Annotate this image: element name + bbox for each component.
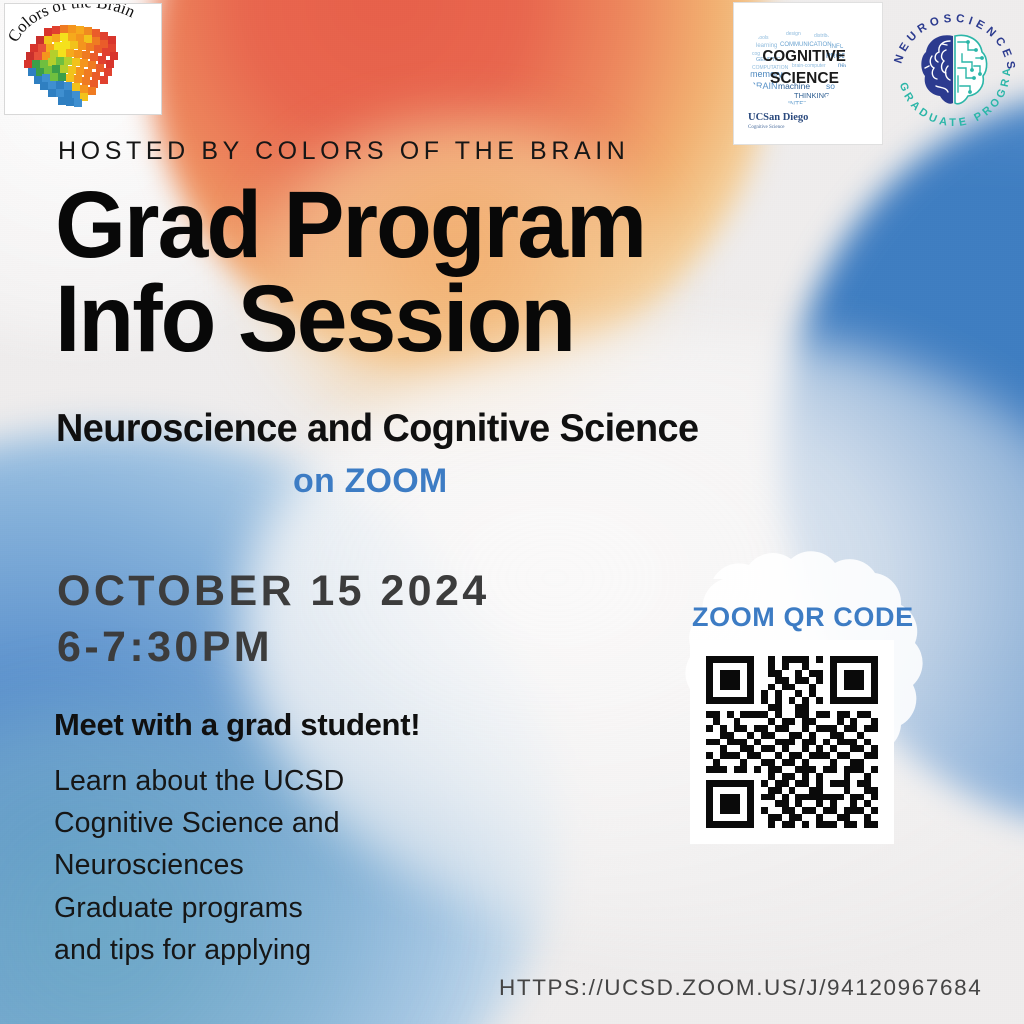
body-description: Learn about the UCSD Cognitive Science a… bbox=[54, 760, 344, 971]
svg-text:HCI: HCI bbox=[818, 108, 832, 117]
pixel-brain-icon bbox=[14, 20, 154, 110]
neurosciences-circular-logo-icon: NEUROSCIENCES GRADUATE PROGRAM bbox=[884, 0, 1024, 140]
cognitive-science-wordcloud-brain-icon: tools design distributed learning COMMUN… bbox=[734, 3, 883, 145]
svg-text:theory: theory bbox=[750, 93, 763, 98]
ucsd-wordmark: UCSan Diego bbox=[748, 112, 808, 123]
svg-text:cells: cells bbox=[844, 101, 854, 106]
colors-of-the-brain-logo: Colors of the Brain bbox=[4, 3, 162, 115]
ucsd-wordmark-sub: Cognitive Science bbox=[748, 125, 785, 130]
svg-text:design: design bbox=[786, 31, 801, 37]
cta-meet-grad-student: Meet with a grad student! bbox=[54, 707, 420, 743]
split-brain-icon bbox=[921, 35, 986, 103]
svg-text:active: active bbox=[772, 101, 785, 107]
svg-text:mind: mind bbox=[802, 123, 812, 128]
qr-code-card[interactable] bbox=[690, 640, 894, 844]
kicker-hosted-by: HOSTED BY COLORS OF THE BRAIN bbox=[58, 137, 629, 166]
svg-text:INTERACTION: INTERACTION bbox=[788, 101, 835, 108]
cogsci-word-cognitive: COGNITIVE bbox=[762, 48, 845, 65]
neurosciences-graduate-program-logo: NEUROSCIENCES GRADUATE PROGRAM bbox=[884, 0, 1024, 140]
cogsci-word-science: SCIENCE bbox=[770, 70, 839, 87]
ucsd-cognitive-science-logo: tools design distributed learning COMMUN… bbox=[733, 2, 883, 145]
svg-text:imagine: imagine bbox=[836, 110, 854, 116]
page-title: Grad Program Info Session bbox=[55, 178, 645, 366]
qr-code-label: ZOOM QR CODE bbox=[692, 602, 914, 633]
svg-text:THINKING: THINKING bbox=[794, 91, 830, 100]
svg-text:distributed: distributed bbox=[814, 33, 837, 39]
event-date-time: OCTOBER 15 2024 6-7:30PM bbox=[57, 564, 490, 676]
svg-text:tools: tools bbox=[758, 35, 769, 41]
svg-text:ANALYSIS: ANALYSIS bbox=[820, 119, 842, 124]
subtitle-programs: Neuroscience and Cognitive Science bbox=[56, 407, 698, 451]
qr-code-image[interactable] bbox=[706, 656, 878, 828]
svg-text:perception: perception bbox=[846, 73, 868, 78]
zoom-meeting-link[interactable]: HTTPS://UCSD.ZOOM.US/J/94120967684 bbox=[499, 975, 982, 1001]
platform-label-zoom: on ZOOM bbox=[293, 462, 447, 501]
svg-text:SLEEP: SLEEP bbox=[850, 93, 867, 99]
poster-canvas: Colors of the Brain bbox=[0, 0, 1024, 1024]
